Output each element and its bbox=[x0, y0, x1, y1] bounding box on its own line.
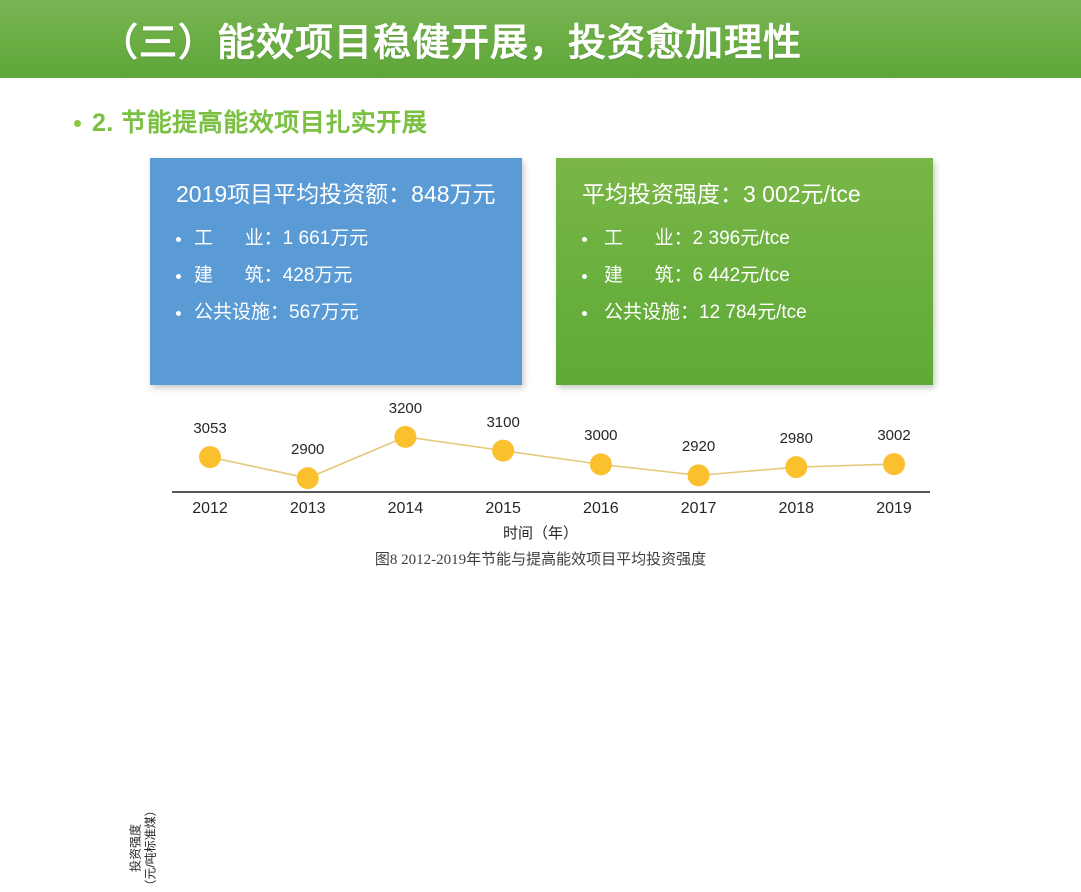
chart-x-tick-label: 2014 bbox=[388, 500, 424, 518]
chart-data-label: 2920 bbox=[682, 438, 715, 455]
list-item: 工 业：1 661万元 bbox=[176, 229, 496, 248]
list-item: 公共设施：567万元 bbox=[176, 303, 496, 322]
card-average-intensity: 平均投资强度：3 002元/tce 工 业：2 396元/tce 建 筑：6 4… bbox=[556, 158, 933, 385]
chart-data-point bbox=[297, 467, 319, 489]
chart-data-label: 3002 bbox=[877, 427, 910, 444]
chart-data-label: 3000 bbox=[584, 427, 617, 444]
chart-x-axis-line bbox=[172, 491, 930, 493]
chart-x-tick-label: 2015 bbox=[485, 500, 521, 518]
list-item: 建 筑：428万元 bbox=[176, 266, 496, 285]
chart-y-axis-title: 投资强度 bbox=[129, 824, 143, 872]
chart-x-tick-label: 2016 bbox=[583, 500, 619, 518]
section-subtitle: 2. 节能提高能效项目扎实开展 bbox=[74, 103, 427, 139]
figure-caption: 图8 2012-2019年节能与提高能效项目平均投资强度 bbox=[0, 548, 1081, 569]
chart-data-label: 3053 bbox=[193, 420, 226, 437]
chart-x-tick-label: 2013 bbox=[290, 500, 326, 518]
chart-data-point bbox=[785, 456, 807, 478]
chart-data-label: 3100 bbox=[486, 414, 519, 431]
chart-data-point bbox=[688, 464, 710, 486]
section-subtitle-label: 2. 节能提高能效项目扎实开展 bbox=[92, 103, 427, 139]
bullet-dot-icon bbox=[74, 120, 81, 127]
page-title: （三）能效项目稳健开展，投资愈加理性 bbox=[100, 12, 802, 67]
card-title-average-intensity: 平均投资强度：3 002元/tce bbox=[582, 180, 907, 209]
card-title-average-investment: 2019项目平均投资额：848万元 bbox=[176, 180, 496, 209]
chart-data-point bbox=[394, 426, 416, 448]
chart-data-point bbox=[883, 453, 905, 475]
chart-series-svg bbox=[172, 395, 932, 495]
slide-header-band: （三）能效项目稳健开展，投资愈加理性 bbox=[0, 0, 1081, 78]
chart-data-label: 3200 bbox=[389, 400, 422, 417]
chart-x-tick-label: 2019 bbox=[876, 500, 912, 518]
chart-x-tick-label: 2018 bbox=[778, 500, 814, 518]
chart-x-tick-label: 2017 bbox=[681, 500, 717, 518]
chart-plot-area: 30532900320031003000292029803002 bbox=[172, 395, 932, 495]
chart-data-label: 2900 bbox=[291, 441, 324, 458]
chart-y-axis-label: 投资强度 （元/吨标准煤） bbox=[104, 805, 184, 891]
chart-x-tick-label: 2012 bbox=[192, 500, 228, 518]
list-item: 建 筑：6 442元/tce bbox=[582, 266, 907, 285]
card-bullet-list-investment: 工 业：1 661万元 建 筑：428万元 公共设施：567万元 bbox=[176, 229, 496, 322]
chart-x-axis-label: 时间（年） bbox=[0, 522, 1081, 543]
chart-data-label: 2980 bbox=[780, 430, 813, 447]
chart-data-point bbox=[590, 453, 612, 475]
card-bullet-list-intensity: 工 业：2 396元/tce 建 筑：6 442元/tce 公共设施：12 78… bbox=[582, 229, 907, 322]
chart-y-axis-unit: （元/吨标准煤） bbox=[144, 804, 158, 891]
investment-intensity-line-chart: 投资强度 （元/吨标准煤） 30532900320031003000292029… bbox=[0, 395, 1081, 607]
list-item: 公共设施：12 784元/tce bbox=[582, 303, 907, 322]
chart-data-point bbox=[492, 440, 514, 462]
chart-data-point bbox=[199, 446, 221, 468]
card-average-investment: 2019项目平均投资额：848万元 工 业：1 661万元 建 筑：428万元 … bbox=[150, 158, 522, 385]
list-item: 工 业：2 396元/tce bbox=[582, 229, 907, 248]
